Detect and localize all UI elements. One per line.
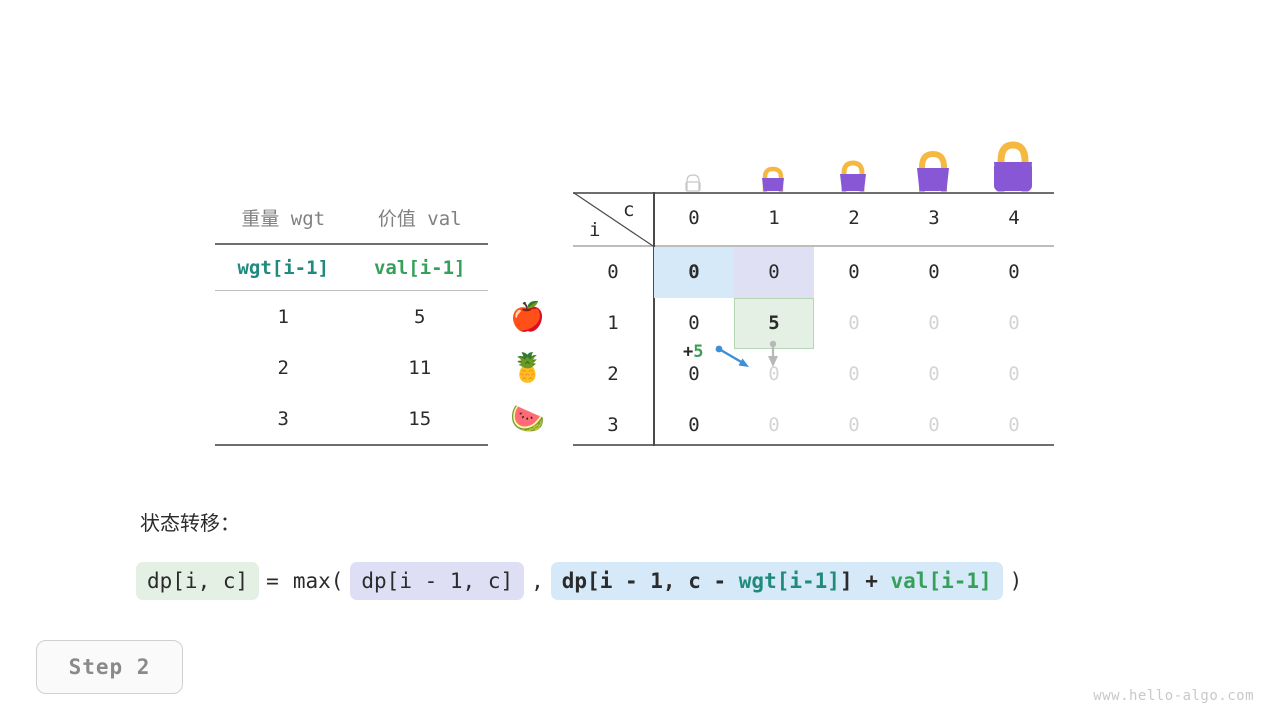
items-row-2-val: 11	[352, 342, 489, 393]
items-subheader-wgt: wgt[i-1]	[215, 244, 352, 291]
pineapple-icon: 🍍	[510, 354, 545, 382]
formula-term-take-mid: ] +	[840, 569, 891, 593]
items-row-3-val: 15	[352, 393, 489, 445]
formula-comma: ,	[524, 569, 551, 593]
items-table: 重量 wgt 价值 val wgt[i-1] val[i-1] 1 5 2 11…	[215, 192, 488, 446]
watermelon-icon: 🍉	[510, 405, 545, 433]
dp-table: c i 0 1 2 3 4 0 1 2 3 0 0 0 0 0 0 5 0 0 …	[573, 130, 1054, 446]
dp-grid: c i 0 1 2 3 4 0 1 2 3 0 0 0 0 0 0 5 0 0 …	[573, 192, 1054, 446]
items-table-grid: 重量 wgt 价值 val wgt[i-1] val[i-1] 1 5 2 11…	[215, 192, 488, 446]
bag-icon-capacity-1	[733, 160, 813, 192]
items-row-1-val: 5	[352, 291, 489, 343]
formula-token-wgt: wgt[i-1]	[739, 569, 840, 593]
state-transition-formula: dp[i, c] = max( dp[i - 1, c] , dp[i - 1,…	[136, 558, 1029, 604]
items-header-val: 价值 val	[352, 192, 489, 244]
formula-term-take: dp[i - 1, c - wgt[i-1]] + val[i-1]	[551, 562, 1003, 600]
items-row-1-wgt: 1	[215, 291, 352, 343]
formula-equals: =	[259, 569, 286, 593]
watermark: www.hello-algo.com	[1093, 688, 1254, 704]
formula-term-skip: dp[i - 1, c]	[350, 562, 524, 600]
items-row-2: 2 11	[215, 342, 488, 393]
items-table-subheader-row: wgt[i-1] val[i-1]	[215, 244, 488, 291]
bag-icon-capacity-0	[653, 166, 733, 192]
items-subheader-val: val[i-1]	[352, 244, 489, 291]
items-row-2-wgt: 2	[215, 342, 352, 393]
items-row-3-wgt: 3	[215, 393, 352, 445]
bag-icon-capacity-4	[973, 132, 1053, 192]
bag-icon-capacity-3	[893, 142, 973, 192]
bag-icon-capacity-2	[813, 152, 893, 192]
formula-token-val: val[i-1]	[891, 569, 992, 593]
transition-arrows	[573, 192, 1054, 446]
diagonal-arrow-icon	[716, 346, 749, 367]
state-transition-label: 状态转移：	[140, 507, 240, 536]
formula-close-paren: )	[1003, 569, 1030, 593]
step-badge: Step 2	[36, 640, 183, 694]
items-header-wgt: 重量 wgt	[215, 192, 352, 244]
bag-icons-row	[573, 130, 1054, 192]
items-table-header-row: 重量 wgt 价值 val	[215, 192, 488, 244]
vertical-arrow-icon	[768, 341, 778, 367]
items-row-3: 3 15	[215, 393, 488, 445]
formula-max-fn: max(	[286, 569, 351, 593]
items-row-1: 1 5	[215, 291, 488, 343]
formula-target: dp[i, c]	[136, 562, 259, 600]
formula-term-take-prefix: dp[i - 1, c -	[562, 569, 739, 593]
apple-icon: 🍎	[510, 303, 545, 331]
